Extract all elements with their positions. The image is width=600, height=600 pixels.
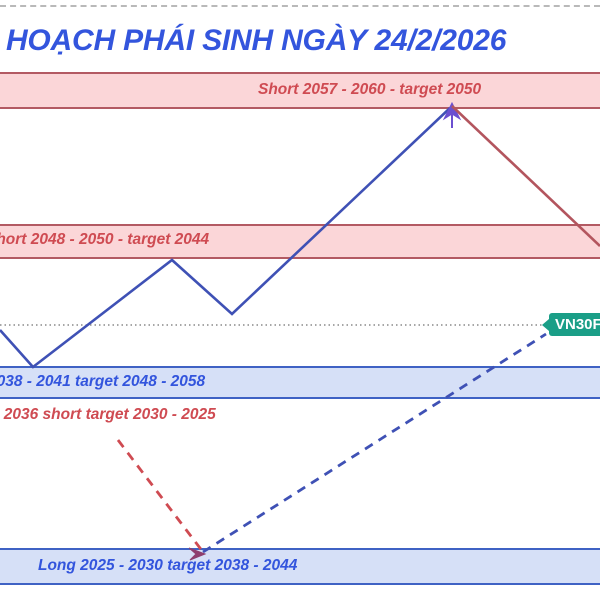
alternate-path-dashed-red xyxy=(118,440,203,552)
price-tag-vn30f1[interactable]: VN30F1 xyxy=(549,313,600,336)
chart-canvas: Ế HOẠCH PHÁI SINH NGÀY 24/2/2026 Short 2… xyxy=(0,0,600,600)
chart-lines-layer xyxy=(0,0,600,600)
alternate-path-dashed-blue xyxy=(203,334,546,552)
projected-path-solid-red xyxy=(452,106,600,246)
projected-path-solid-blue xyxy=(0,108,450,367)
down-arrowhead-icon xyxy=(189,548,205,560)
